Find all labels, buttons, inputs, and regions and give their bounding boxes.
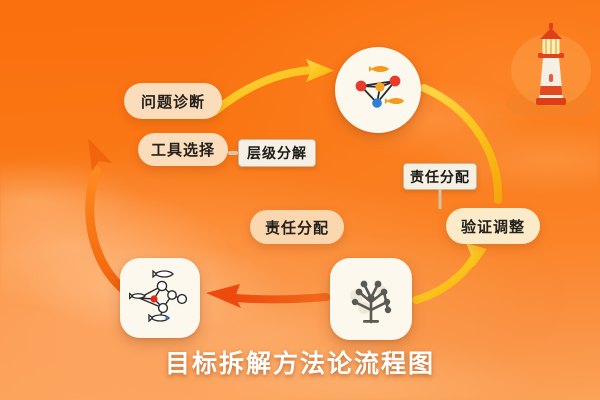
label-responsibility-assignment-right[interactable]: 责任分配 [403, 163, 477, 190]
tag-text: 层级分解 [247, 143, 307, 163]
label-tool-selection[interactable]: 工具选择 [138, 133, 228, 166]
page-title: 目标拆解方法论流程图 [0, 344, 600, 380]
label-hierarchical-decomposition[interactable]: 层级分解 [238, 139, 316, 167]
node-network-card[interactable] [120, 258, 200, 338]
fishbone-network-icon [129, 268, 191, 328]
decomposition-tree-icon [341, 270, 401, 328]
flowchart-canvas: 问题诊断 工具选择 层级分解 责任分配 责任分配 验证调整 目标拆解方法论流程图 [0, 0, 600, 400]
arrow-layer [0, 0, 600, 400]
tag-signpost [439, 189, 442, 209]
arrow-network-to-diagnose [88, 138, 124, 290]
node-tree-card[interactable] [330, 258, 412, 340]
arrow-tree-to-verify [416, 243, 487, 300]
fish-outline [130, 271, 174, 321]
tag-text: 责任分配 [410, 167, 470, 187]
arrow-tools-to-analysis [214, 59, 334, 112]
network-graph-icon [347, 60, 409, 120]
node-analysis-card[interactable] [335, 47, 421, 133]
label-problem-diagnosis[interactable]: 问题诊断 [124, 83, 222, 119]
arrow-tree-to-network [206, 284, 326, 308]
tag-connector-stub [228, 151, 238, 155]
label-verify-adjust[interactable]: 验证调整 [446, 208, 540, 244]
label-responsibility-assignment-center[interactable]: 责任分配 [250, 210, 344, 244]
